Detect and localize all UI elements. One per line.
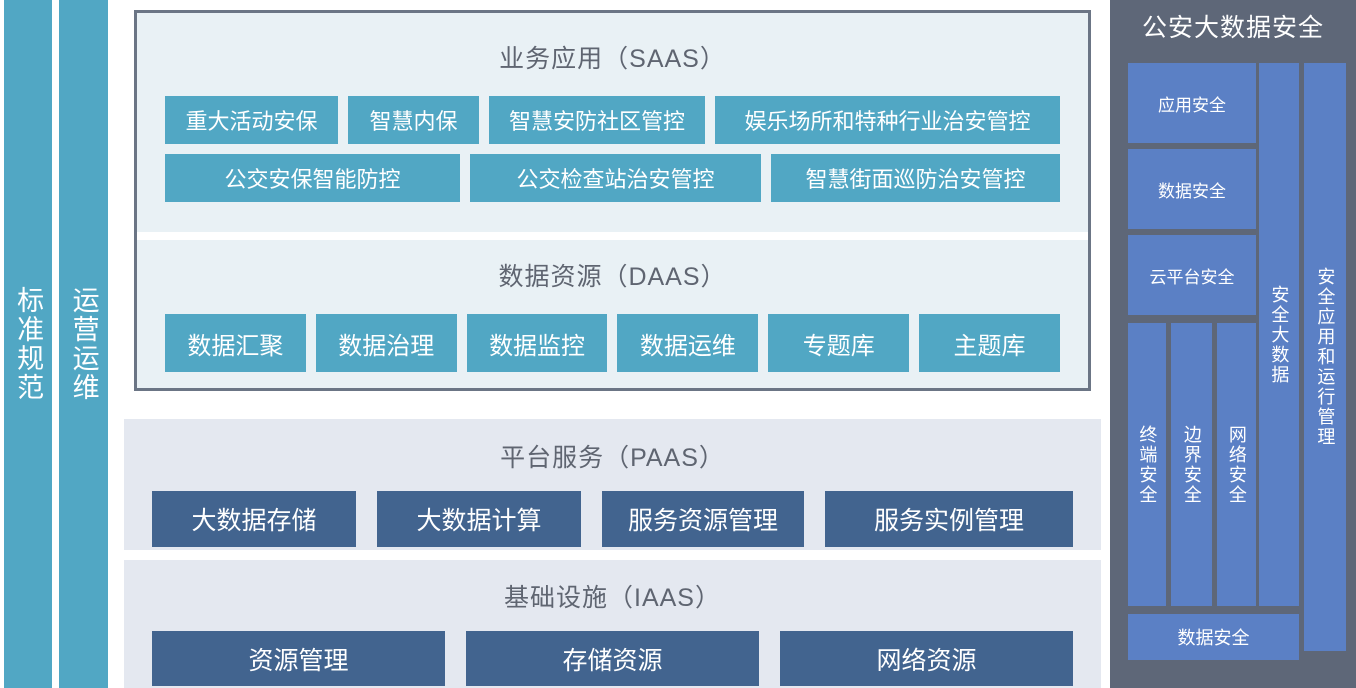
chip-storage-resource[interactable]: 存储资源: [466, 631, 759, 686]
layer-paas-row-1: 大数据存储 大数据计算 服务资源管理 服务实例管理: [124, 491, 1101, 547]
sec-box-data-security[interactable]: 数据安全: [1128, 149, 1256, 229]
chip-service-instance-management[interactable]: 服务实例管理: [825, 491, 1073, 547]
sidebar-standard-spec-label: 标准规范: [13, 286, 43, 402]
chip-entertainment-special-industry-control[interactable]: 娱乐场所和特种行业治安管控: [715, 96, 1060, 144]
chip-bigdata-storage[interactable]: 大数据存储: [152, 491, 356, 547]
sidebar-standard-spec[interactable]: 标准规范: [4, 0, 52, 688]
layer-daas-row-1: 数据汇聚 数据治理 数据监控 数据运维 专题库 主题库: [137, 314, 1088, 372]
architecture-stack: 业务应用（SAAS） 重大活动安保 智慧内保 智慧安防社区管控 娱乐场所和特种行…: [124, 0, 1101, 688]
chip-data-operations[interactable]: 数据运维: [617, 314, 758, 372]
sec-box-application-security[interactable]: 应用安全: [1128, 63, 1256, 143]
chip-subject-library[interactable]: 主题库: [919, 314, 1060, 372]
layer-daas: 数据资源（DAAS） 数据汇聚 数据治理 数据监控 数据运维 专题库 主题库: [137, 240, 1088, 388]
layer-saas-row-2: 公交安保智能防控 公交检查站治安管控 智慧街面巡防治安管控: [137, 154, 1088, 202]
chip-smart-street-patrol-control[interactable]: 智慧街面巡防治安管控: [771, 154, 1060, 202]
layer-iaas: 基础设施（IAAS） 资源管理 存储资源 网络资源: [124, 560, 1101, 688]
layer-iaas-title: 基础设施（IAAS）: [124, 560, 1101, 614]
layer-iaas-row-1: 资源管理 存储资源 网络资源: [124, 631, 1101, 686]
chip-bigdata-computing[interactable]: 大数据计算: [377, 491, 581, 547]
chip-smart-community-control[interactable]: 智慧安防社区管控: [489, 96, 705, 144]
sec-box-terminal-security[interactable]: 终端安全: [1128, 323, 1166, 606]
sidebar-operations-maintenance-label: 运营运维: [68, 286, 98, 402]
sec-box-cloud-platform-security[interactable]: 云平台安全: [1128, 235, 1256, 315]
chip-bus-security-smart-defense[interactable]: 公交安保智能防控: [165, 154, 460, 202]
security-panel: 公安大数据安全 应用安全 数据安全 云平台安全 终端安全 边界安全 网络安全 安…: [1110, 0, 1356, 688]
sec-box-boundary-security[interactable]: 边界安全: [1171, 323, 1212, 606]
chip-data-aggregation[interactable]: 数据汇聚: [165, 314, 306, 372]
saas-daas-group-frame: 业务应用（SAAS） 重大活动安保 智慧内保 智慧安防社区管控 娱乐场所和特种行…: [134, 10, 1091, 391]
chip-major-event-security[interactable]: 重大活动安保: [165, 96, 338, 144]
sec-box-bottom-data-security[interactable]: 数据安全: [1128, 614, 1299, 660]
layer-daas-title: 数据资源（DAAS）: [137, 240, 1088, 293]
chip-bus-checkpoint-control[interactable]: 公交检查站治安管控: [470, 154, 761, 202]
chip-resource-management[interactable]: 资源管理: [152, 631, 445, 686]
layer-paas-title: 平台服务（PAAS）: [124, 419, 1101, 474]
sec-box-network-security[interactable]: 网络安全: [1217, 323, 1256, 606]
sec-box-security-big-data[interactable]: 安全大数据: [1259, 63, 1299, 606]
chip-data-monitoring[interactable]: 数据监控: [467, 314, 608, 372]
chip-service-resource-management[interactable]: 服务资源管理: [602, 491, 804, 547]
chip-data-governance[interactable]: 数据治理: [316, 314, 457, 372]
layer-saas-title: 业务应用（SAAS）: [137, 13, 1088, 75]
chip-thematic-library[interactable]: 专题库: [768, 314, 909, 372]
sidebar-operations-maintenance[interactable]: 运营运维: [59, 0, 108, 688]
architecture-diagram: 标准规范 运营运维 业务应用（SAAS） 重大活动安保 智慧内保 智慧安防社区管…: [0, 0, 1356, 688]
layer-saas-row-1: 重大活动安保 智慧内保 智慧安防社区管控 娱乐场所和特种行业治安管控: [137, 96, 1088, 144]
security-panel-body: 应用安全 数据安全 云平台安全 终端安全 边界安全 网络安全 安全大数据 安全应…: [1110, 0, 1356, 688]
chip-network-resource[interactable]: 网络资源: [780, 631, 1073, 686]
sec-box-security-app-and-operation-management[interactable]: 安全应用和运行管理: [1304, 63, 1346, 651]
chip-smart-internal-security[interactable]: 智慧内保: [348, 96, 479, 144]
layer-paas: 平台服务（PAAS） 大数据存储 大数据计算 服务资源管理 服务实例管理: [124, 419, 1101, 550]
layer-saas: 业务应用（SAAS） 重大活动安保 智慧内保 智慧安防社区管控 娱乐场所和特种行…: [137, 13, 1088, 232]
